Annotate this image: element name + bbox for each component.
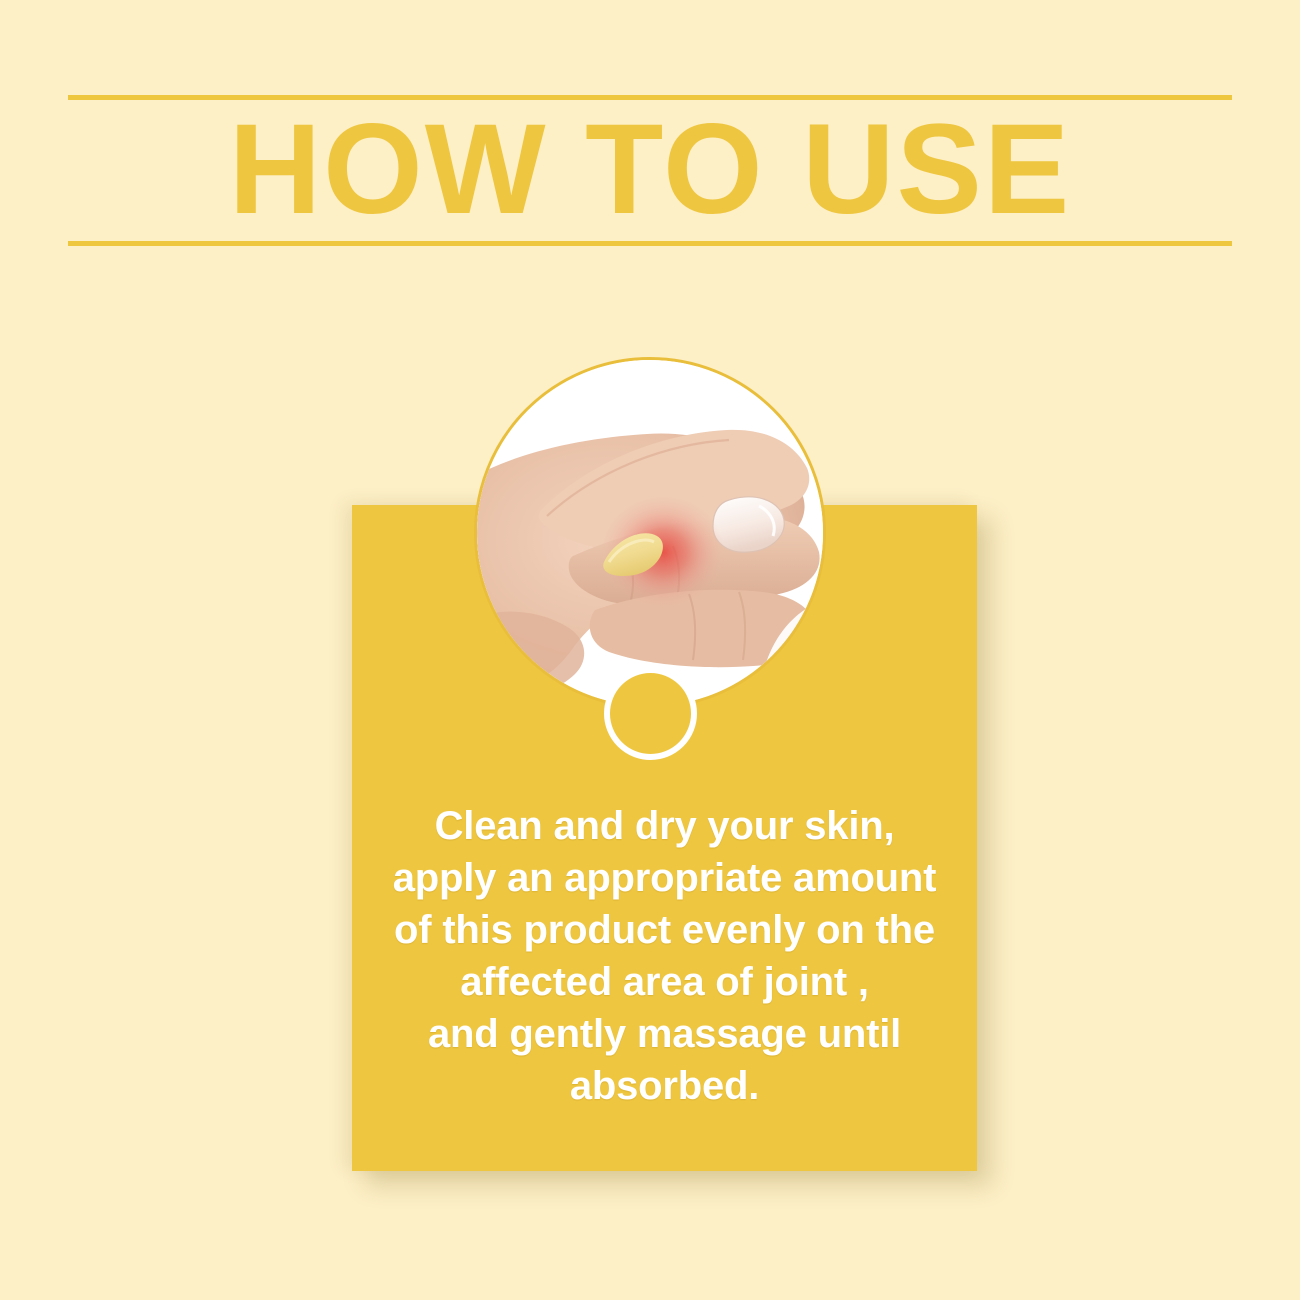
- hand-photo-circle: [474, 357, 826, 709]
- page-title: HOW TO USE: [0, 104, 1300, 236]
- accent-circle: [604, 667, 697, 760]
- hand-applying-cream-photo: [477, 360, 823, 706]
- how-to-use-infographic: HOW TO USE Clean and dry your skin, appl…: [0, 0, 1300, 1300]
- instruction-text: Clean and dry your skin, apply an approp…: [352, 800, 977, 1112]
- header-bottom-divider: [68, 241, 1232, 246]
